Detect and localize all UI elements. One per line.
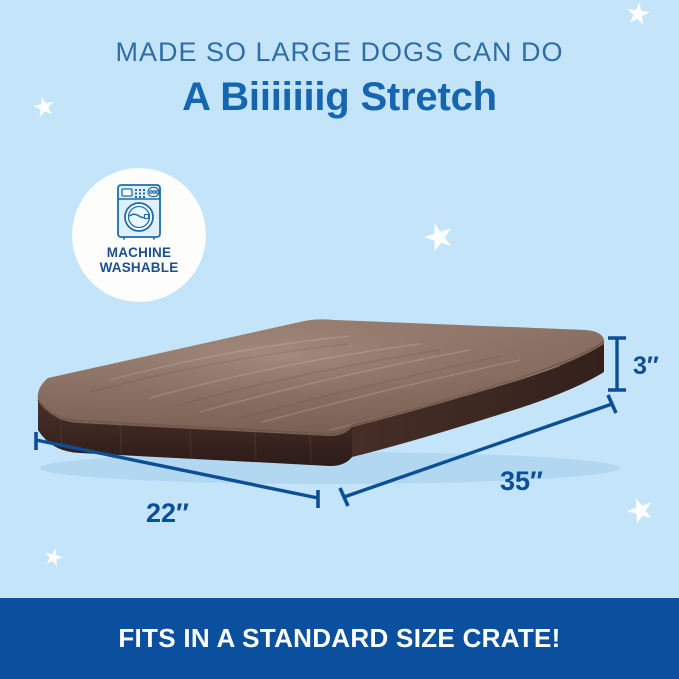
- banner-text: FITS IN A STANDARD SIZE CRATE!: [118, 623, 560, 654]
- bed-front-seam: [38, 400, 352, 434]
- bed-left-face: [38, 400, 78, 452]
- bed-right-face: [352, 342, 604, 457]
- bed-top-texture: [110, 336, 560, 430]
- bottom-banner: FITS IN A STANDARD SIZE CRATE!: [0, 598, 679, 679]
- star-top-right-icon: [624, 0, 651, 27]
- badge-caption: MACHINE WASHABLE: [100, 246, 179, 275]
- star-middle-center-icon: [420, 218, 458, 256]
- headline-block: MADE SO LARGE DOGS CAN DO A Biiiiiiig St…: [0, 38, 679, 118]
- badge-caption-line1: MACHINE: [100, 246, 179, 261]
- machine-washable-badge: MACHINE WASHABLE: [72, 168, 206, 302]
- bed-top-texture-dark: [90, 344, 500, 418]
- badge-caption-line2: WASHABLE: [100, 261, 179, 276]
- promo-image-canvas: MADE SO LARGE DOGS CAN DO A Biiiiiiig St…: [0, 0, 679, 679]
- bed-top-surface: [38, 319, 604, 436]
- bed-right-seam: [352, 342, 604, 425]
- bed-front-texture: [60, 414, 311, 463]
- bed-front-face: [38, 400, 352, 466]
- headline-kicker: MADE SO LARGE DOGS CAN DO: [0, 38, 679, 66]
- washing-machine-icon: [113, 182, 165, 240]
- dimension-label-height: 3″: [633, 352, 659, 381]
- dimension-label-width: 22″: [146, 498, 189, 529]
- dimension-label-length: 35″: [500, 466, 543, 497]
- star-bottom-right-icon: [623, 493, 658, 528]
- headline-main: A Biiiiiiig Stretch: [0, 76, 679, 118]
- dim-line-3: [608, 338, 626, 390]
- bed-top-sheen: [38, 319, 604, 436]
- dim-line-35: [340, 395, 616, 506]
- dim-line-22: [36, 432, 318, 508]
- star-bottom-left-icon: [42, 546, 65, 569]
